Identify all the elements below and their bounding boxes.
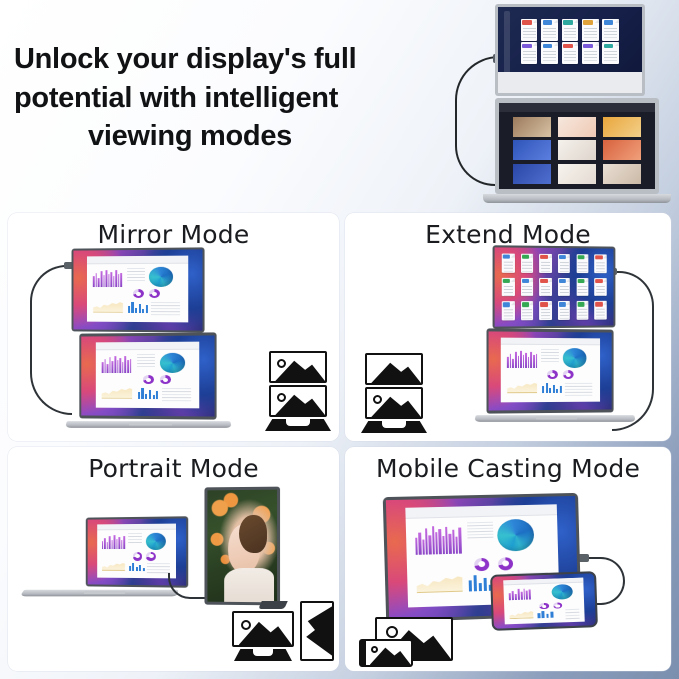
headline-line-1: Unlock your display's full (14, 40, 444, 79)
portable-monitor-top (495, 4, 645, 96)
donut-chart (563, 370, 574, 379)
slide-thumb (513, 117, 551, 137)
table-lines (151, 302, 180, 317)
file-icon (582, 19, 598, 40)
slide-grid (513, 117, 641, 184)
card-mirror-mode[interactable]: Mirror Mode (8, 213, 339, 441)
icon-frame-phone (359, 639, 413, 667)
dashboard-window (97, 524, 176, 579)
slide-thumb (603, 164, 641, 184)
area-chart (102, 386, 133, 399)
icon-frame-bottom (365, 387, 423, 419)
window-titlebar (405, 505, 557, 519)
donut-chart (133, 552, 142, 560)
extend-mode-icon (361, 353, 427, 435)
mountain-icon (366, 641, 411, 665)
stand-icon (265, 419, 331, 431)
file-icon (521, 254, 533, 273)
file-icon (540, 278, 552, 296)
file-icon (521, 42, 537, 63)
donut-chart (547, 370, 558, 379)
portrait-photo (207, 490, 277, 603)
donut-chart (474, 558, 489, 571)
laptop-screen (499, 103, 655, 189)
file-icon (602, 19, 618, 40)
page-title: Unlock your display's full potential wit… (14, 40, 444, 156)
donut-chart (149, 289, 160, 298)
window-titlebar (96, 342, 200, 350)
file-icon (576, 278, 588, 296)
extend-mode-illustration (345, 243, 671, 441)
photo-dress (224, 568, 274, 602)
mountain-icon (271, 387, 325, 415)
file-icon (502, 278, 515, 297)
area-chart (507, 380, 537, 393)
stand-icon (234, 649, 292, 661)
file-icon (558, 254, 570, 272)
file-icon (540, 254, 552, 272)
window-titlebar (87, 256, 188, 264)
file-icon (521, 19, 537, 40)
slide-thumb (558, 164, 596, 184)
donut-chart (143, 375, 154, 384)
window-titlebar (97, 524, 176, 531)
photo-hair (239, 514, 267, 552)
hero-section: Unlock your display's full potential wit… (0, 0, 679, 211)
file-icon (541, 42, 557, 63)
hero-product-photo (455, 0, 679, 211)
donut-chart (146, 552, 156, 560)
monitor-screen (73, 249, 202, 330)
mirror-mode-illustration (8, 243, 339, 441)
sphere-chart (551, 584, 572, 600)
file-icon (595, 255, 607, 273)
table-lines (565, 383, 592, 398)
bar-chart (93, 268, 122, 286)
area-chart (93, 300, 123, 313)
laptop-base (65, 421, 232, 428)
icon-frame-top (365, 353, 423, 385)
usb-cable (612, 271, 654, 431)
table-lines (147, 563, 169, 575)
mountain-icon (234, 613, 292, 645)
card-mobile-casting-mode[interactable]: Mobile Casting Mode (345, 447, 671, 671)
portable-monitor-portrait (204, 487, 280, 606)
laptop-lid (495, 98, 659, 194)
dashboard-window (501, 338, 599, 403)
icon-frame-bottom (269, 385, 327, 417)
column-chart (128, 301, 148, 313)
trackpad (84, 591, 126, 595)
legend-lines (467, 522, 493, 541)
portrait-mode-icon (232, 601, 334, 667)
file-icon (562, 19, 578, 40)
file-icon (595, 278, 607, 296)
file-icon (602, 42, 618, 63)
file-grid (521, 19, 619, 64)
card-extend-mode[interactable]: Extend Mode (345, 213, 671, 441)
file-icon (576, 254, 588, 272)
donut-chart (133, 289, 144, 298)
mountain-icon-rotated (302, 603, 332, 659)
area-chart (102, 561, 125, 571)
donut-chart (159, 375, 171, 384)
slide-thumb (603, 140, 641, 160)
headline-line-2: potential with intelligent (14, 79, 444, 118)
file-icon (540, 301, 552, 319)
table-lines (162, 388, 191, 403)
slide-thumb (558, 117, 596, 137)
table-lines (565, 609, 580, 621)
monitor-screen-portrait (207, 490, 277, 603)
mobile-casting-mode-icon (359, 617, 455, 671)
icon-frame-top (269, 351, 327, 383)
file-icon (541, 19, 557, 40)
legend-lines (137, 353, 156, 368)
icon-frame-landscape (232, 611, 294, 647)
sphere-chart (145, 533, 165, 551)
bar-chart (102, 354, 132, 372)
sphere-chart (563, 349, 586, 368)
monitor-screen-top (498, 7, 642, 93)
sphere-chart (497, 519, 534, 552)
area-chart (509, 609, 533, 619)
icon-frame-portrait (300, 601, 334, 661)
usb-cable (30, 265, 72, 415)
legend-lines (127, 267, 145, 282)
monitor-screen (495, 247, 614, 326)
donut-chart (553, 602, 563, 609)
file-icon (562, 42, 578, 63)
portable-monitor (493, 245, 616, 328)
file-icon (595, 301, 607, 319)
portrait-mode-illustration (8, 477, 339, 671)
trackpad (129, 422, 172, 425)
file-icon (576, 301, 588, 319)
bar-chart (102, 534, 125, 549)
mirror-mode-icon (265, 351, 331, 433)
laptop-screen (489, 331, 612, 410)
mountain-icon (367, 355, 421, 383)
dashboard-window (96, 342, 200, 408)
column-chart (537, 610, 553, 619)
slide-thumb (513, 140, 551, 160)
app-menubar (499, 103, 655, 112)
file-grid (502, 254, 607, 320)
laptop-base (20, 590, 179, 597)
slide-thumb (558, 140, 596, 160)
donut-chart (498, 557, 513, 570)
column-chart (129, 562, 145, 571)
bar-chart (507, 350, 537, 368)
window-titlebar (501, 338, 599, 346)
file-icon (502, 254, 515, 273)
dock-sidebar (504, 11, 510, 76)
slide-thumb (513, 164, 551, 184)
column-chart (138, 387, 159, 399)
stand-icon (361, 421, 427, 433)
laptop-lid (487, 328, 614, 413)
file-icon (502, 302, 515, 321)
app-toolbar (498, 72, 642, 93)
legend-lines (541, 349, 559, 364)
donut-chart (539, 603, 549, 610)
bar-chart (415, 524, 462, 555)
sphere-chart (149, 267, 173, 287)
headline-line-3: viewing modes (14, 117, 444, 156)
laptop-base (483, 194, 671, 203)
legend-lines (128, 533, 142, 545)
area-chart (416, 572, 462, 593)
laptop-lid (79, 332, 216, 419)
laptop-base (474, 415, 636, 422)
laptop-screen (81, 335, 214, 416)
column-chart (542, 382, 562, 394)
dashboard-window (87, 256, 188, 322)
portable-monitor (72, 247, 205, 332)
sphere-chart (159, 353, 184, 373)
dashboard-window (503, 577, 584, 624)
trackpad (536, 416, 578, 419)
bar-chart (509, 587, 532, 600)
mountain-icon (367, 389, 421, 417)
mountain-icon (271, 353, 325, 381)
file-icon (558, 301, 570, 319)
slide-thumb (603, 117, 641, 137)
phone-screen (492, 573, 596, 629)
file-icon (521, 301, 533, 320)
card-portrait-mode[interactable]: Portrait Mode (8, 447, 339, 671)
file-icon (582, 42, 598, 63)
file-icon (521, 278, 533, 297)
mobile-casting-illustration (345, 477, 671, 671)
file-icon (558, 278, 570, 296)
smartphone (490, 571, 598, 631)
